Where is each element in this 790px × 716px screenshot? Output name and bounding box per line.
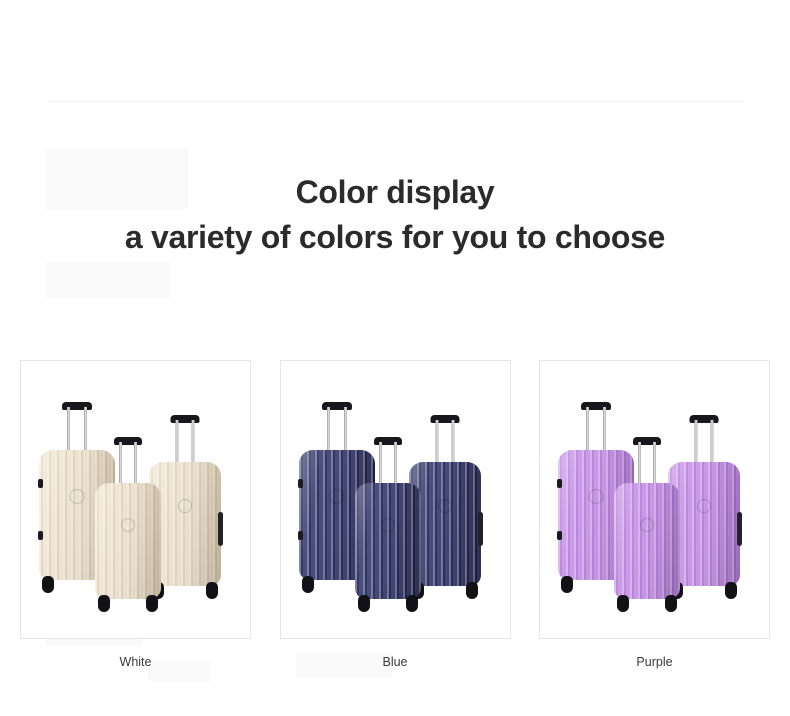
brand-badge-icon (438, 499, 452, 513)
handle-pole-left (176, 420, 179, 466)
suitcase-shell (355, 483, 421, 599)
luggage-set-icon (281, 361, 510, 638)
brand-badge-icon (697, 499, 711, 513)
spinner-wheel (206, 582, 218, 599)
telescopic-handle (581, 402, 611, 454)
shell-gloss (614, 483, 680, 599)
spinner-wheel (617, 595, 629, 612)
telescopic-handle (633, 437, 661, 487)
handle-pole-right (134, 442, 137, 487)
suitcase-small (614, 483, 680, 599)
background-artifact-block (46, 262, 170, 298)
shell-gloss (95, 483, 161, 599)
spinner-wheel (561, 576, 573, 593)
latch-icon (298, 479, 303, 488)
telescopic-handle (62, 402, 92, 454)
telescopic-handle (171, 415, 200, 466)
brand-badge-icon (70, 489, 85, 504)
brand-badge-icon (121, 518, 135, 532)
latch-icon (38, 531, 43, 540)
spinner-wheel (725, 582, 737, 599)
handle-pole-right (603, 407, 606, 454)
brand-badge-icon (178, 499, 192, 513)
page-title-line-2: a variety of colors for you to choose (0, 214, 790, 260)
shell-gloss (355, 483, 421, 599)
color-swatch-label: White (20, 653, 251, 671)
color-swatch-card-white[interactable]: White (20, 360, 251, 671)
page-title: Color display a variety of colors for yo… (0, 170, 790, 260)
handle-pole-left (695, 420, 698, 466)
luggage-set-icon (540, 361, 769, 638)
handle-pole-left (119, 442, 122, 487)
brand-badge-icon (640, 518, 654, 532)
handle-pole-right (192, 420, 195, 466)
latch-icon (38, 479, 43, 488)
color-swatch-gallery: White Blue Purple (20, 360, 770, 671)
side-carry-handle (737, 512, 742, 546)
product-photo-frame[interactable] (280, 360, 511, 639)
telescopic-handle (374, 437, 402, 487)
luggage-set-icon (21, 361, 250, 638)
handle-pole-right (394, 442, 397, 487)
color-swatch-label: Blue (280, 653, 511, 671)
telescopic-handle (430, 415, 459, 466)
spinner-wheel (42, 576, 54, 593)
side-carry-handle (218, 512, 223, 546)
telescopic-handle (690, 415, 719, 466)
latch-icon (298, 531, 303, 540)
handle-pole-right (711, 420, 714, 466)
color-swatch-label: Purple (539, 653, 770, 671)
handle-pole-right (451, 420, 454, 466)
spinner-wheel (665, 595, 677, 612)
telescopic-handle (114, 437, 142, 487)
suitcase-shell (614, 483, 680, 599)
spinner-wheel (146, 595, 158, 612)
telescopic-handle (322, 402, 352, 454)
brand-badge-icon (329, 489, 344, 504)
side-carry-handle (478, 512, 483, 546)
page-title-line-1: Color display (0, 170, 790, 214)
handle-pole-left (586, 407, 589, 454)
color-swatch-card-blue[interactable]: Blue (280, 360, 511, 671)
suitcase-small (355, 483, 421, 599)
latch-icon (557, 479, 562, 488)
spinner-wheel (466, 582, 478, 599)
suitcase-shell (95, 483, 161, 599)
product-photo-frame[interactable] (20, 360, 251, 639)
latch-icon (557, 531, 562, 540)
section-divider (47, 101, 745, 102)
product-photo-frame[interactable] (539, 360, 770, 639)
brand-badge-icon (589, 489, 604, 504)
handle-pole-left (638, 442, 641, 487)
handle-pole-right (653, 442, 656, 487)
handle-pole-right (344, 407, 347, 454)
spinner-wheel (302, 576, 314, 593)
spinner-wheel (358, 595, 370, 612)
suitcase-small (95, 483, 161, 599)
handle-pole-left (67, 407, 70, 454)
color-display-page: Color display a variety of colors for yo… (0, 0, 790, 716)
handle-pole-left (435, 420, 438, 466)
brand-badge-icon (381, 518, 395, 532)
color-swatch-card-purple[interactable]: Purple (539, 360, 770, 671)
handle-pole-right (84, 407, 87, 454)
spinner-wheel (98, 595, 110, 612)
handle-pole-left (379, 442, 382, 487)
handle-pole-left (327, 407, 330, 454)
spinner-wheel (406, 595, 418, 612)
